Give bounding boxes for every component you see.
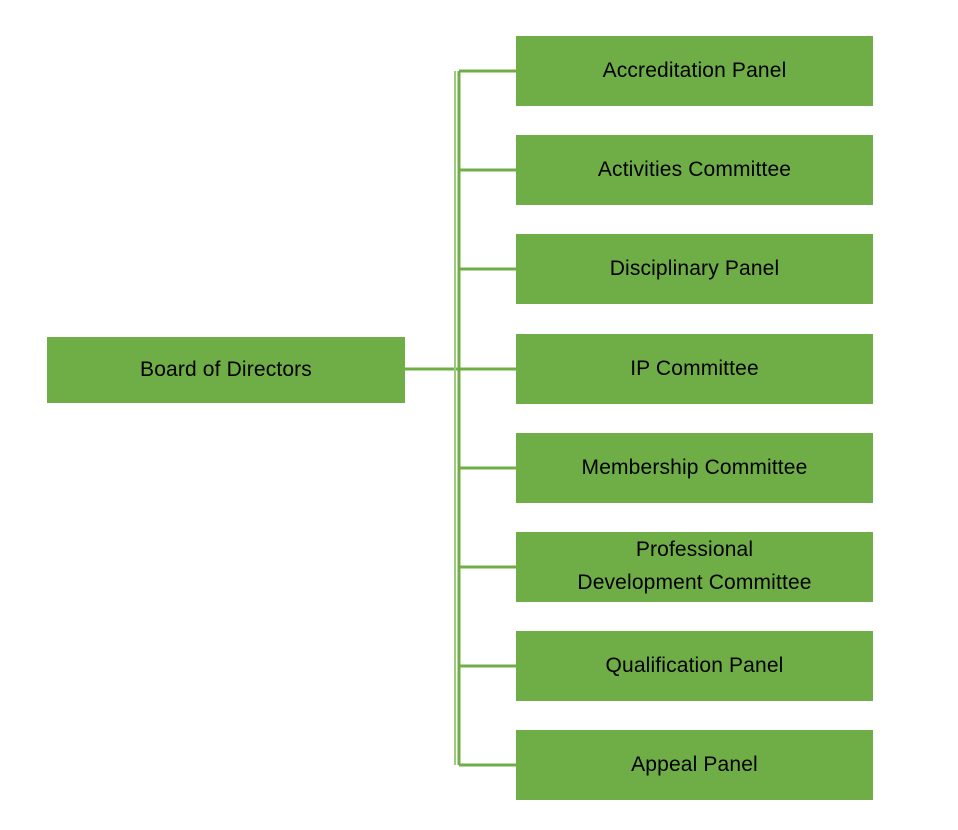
org-node-label: Qualification Panel [524,650,865,683]
org-node-membership-committee[interactable]: Membership Committee [516,433,873,503]
org-node-activities-committee[interactable]: Activities Committee [516,135,873,205]
org-node-ip-committee[interactable]: IP Committee [516,334,873,404]
org-node-appeal-panel[interactable]: Appeal Panel [516,730,873,800]
org-node-qualification-panel[interactable]: Qualification Panel [516,631,873,701]
org-node-label: IP Committee [524,353,865,386]
org-node-label: Accreditation Panel [524,55,865,88]
org-node-label: Disciplinary Panel [524,253,865,286]
org-node-professional-development-committee[interactable]: Professional Development Committee [516,532,873,602]
org-node-label: Appeal Panel [524,749,865,782]
org-node-label: Professional Development Committee [524,534,865,599]
org-chart-canvas: Board of Directors Accreditation Panel A… [0,0,958,830]
connector-lines [0,0,958,830]
org-node-disciplinary-panel[interactable]: Disciplinary Panel [516,234,873,304]
org-node-accreditation-panel[interactable]: Accreditation Panel [516,36,873,106]
org-node-board-of-directors[interactable]: Board of Directors [47,337,405,403]
org-node-label: Activities Committee [524,154,865,187]
org-node-label: Membership Committee [524,452,865,485]
org-node-label: Board of Directors [55,354,397,387]
